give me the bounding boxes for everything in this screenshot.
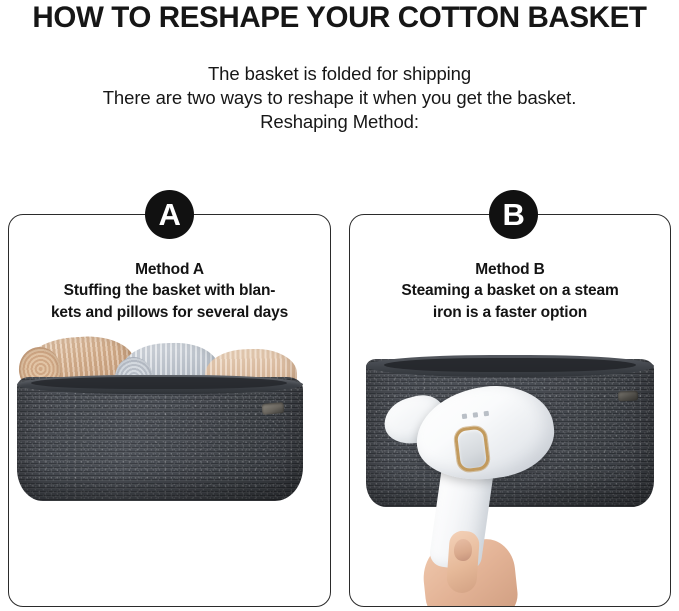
subtitle-line-1: The basket is folded for shipping (0, 62, 679, 86)
method-a-description-line-1: Stuffing the basket with blan- (19, 280, 320, 302)
subtitle-line-2: There are two ways to reshape it when yo… (0, 86, 679, 110)
method-a-description-line-2: kets and pillows for several days (19, 302, 320, 324)
method-b-heading: Method B (360, 259, 660, 280)
basket-handle (262, 402, 285, 415)
methods-container: Method A Stuffing the basket with blan- … (0, 214, 679, 608)
method-b-photo (350, 335, 670, 606)
cotton-rope-basket (17, 377, 303, 501)
page-title: HOW TO RESHAPE YOUR COTTON BASKET (5, 0, 674, 36)
steamer-power-button (453, 425, 490, 473)
basket-handle (618, 390, 638, 401)
method-badge-b: B (489, 190, 538, 239)
subtitle-block: The basket is folded for shipping There … (0, 62, 679, 134)
method-b-text: Method B Steaming a basket on a steam ir… (360, 259, 660, 323)
method-card-b: Method B Steaming a basket on a steam ir… (349, 214, 671, 607)
method-b-description-line-1: Steaming a basket on a steam (360, 280, 660, 302)
method-a-heading: Method A (19, 259, 320, 280)
method-a-photo (9, 335, 330, 606)
method-b-description-line-2: iron is a faster option (360, 302, 660, 324)
method-card-a: Method A Stuffing the basket with blan- … (8, 214, 331, 607)
method-a-text: Method A Stuffing the basket with blan- … (19, 259, 320, 323)
method-badge-a: A (145, 190, 194, 239)
subtitle-line-3: Reshaping Method: (0, 110, 679, 134)
basket-interior (31, 377, 287, 389)
basket-interior (384, 358, 636, 372)
